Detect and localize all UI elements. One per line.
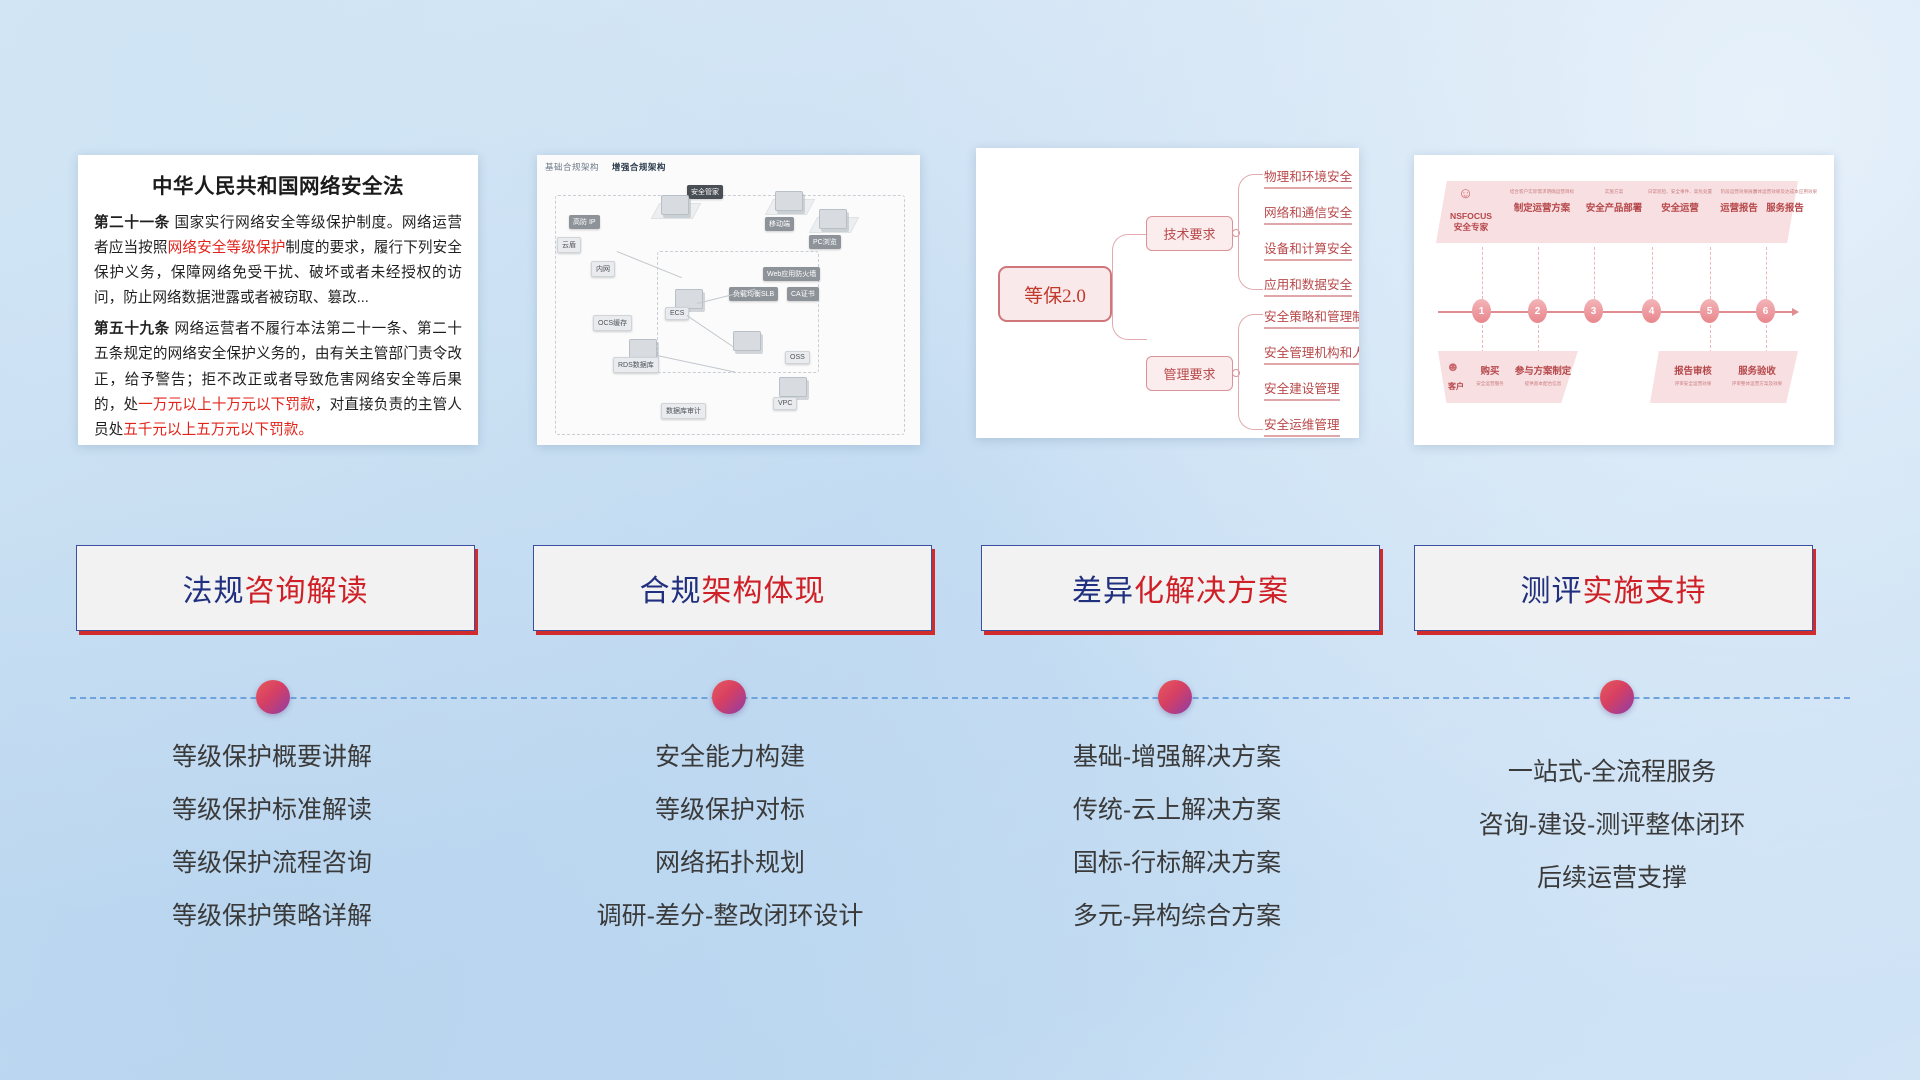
section-items-3: 基础-增强解决方案 传统-云上解决方案 国标-行标解决方案 多元-异构综合方案 (977, 745, 1377, 957)
timeline-connector-5 (1710, 247, 1711, 299)
section-title-box-2[interactable]: 合规架构体现 (533, 545, 932, 631)
section-items-4: 一站式-全流程服务 咨询-建设-测评整体闭环 后续运营支撑 (1412, 760, 1812, 919)
mindmap-leaf-t1: 物理和环境安全 (1264, 166, 1352, 189)
architecture-node-10: RDS数据库 (613, 357, 659, 373)
architecture-node-8: OSS (785, 351, 810, 364)
section-title-box-3[interactable]: 差异化解决方案 (981, 545, 1380, 631)
list-item: 等级保护概要讲解 (72, 745, 472, 770)
architecture-node-13: 云盾 (557, 237, 581, 253)
timeline-bottom-step-3: 报告审核 评审安全运营效果 (1664, 363, 1722, 387)
law-article-21-highlight: 网络安全等级保护 (168, 240, 286, 256)
architecture-node-0: 安全管家 (687, 185, 723, 199)
timeline-dot-2[interactable] (712, 680, 746, 714)
architecture-node-9: VPC (773, 397, 797, 410)
timeline-rail (70, 697, 1850, 699)
list-item: 咨询-建设-测评整体闭环 (1412, 813, 1812, 838)
section-title-box-4[interactable]: 测评实施支持 (1414, 545, 1813, 631)
architecture-cube-a (661, 195, 689, 215)
timeline-bottom-step-1: 购买 安全运营服务 (1466, 363, 1514, 387)
section-title-2-blue: 合规 (640, 575, 702, 608)
section-items-2: 安全能力构建 等级保护对标 网络拓扑规划 调研-差分-整改闭环设计 (530, 745, 930, 957)
card-law-screenshot: 中华人民共和国网络安全法 第二十一条 国家实行网络安全等级保护制度。网络运营者应… (78, 155, 478, 445)
section-title-3: 差异化解决方案 (1072, 566, 1289, 610)
architecture-cube-ecs (675, 289, 703, 309)
section-title-1: 法规咨询解读 (183, 566, 369, 610)
architecture-node-1: 高防 IP (569, 215, 600, 229)
section-title-1-red: 咨询解读 (245, 575, 369, 608)
section-title-3-red: 化解决方案 (1134, 575, 1289, 608)
list-item: 等级保护对标 (530, 798, 930, 823)
mindmap-branch-management: 管理要求 (1146, 356, 1233, 391)
mindmap-leaf-t2: 网络和通信安全 (1264, 202, 1352, 225)
section-items-1: 等级保护概要讲解 等级保护标准解读 等级保护流程咨询 等级保护策略详解 (72, 745, 472, 957)
list-item: 传统-云上解决方案 (977, 798, 1377, 823)
timeline-connector-b2 (1538, 325, 1539, 353)
mindmap-branch-technical-label: 技术要求 (1163, 224, 1215, 243)
timeline-brand: NSFOCUS 安全专家 (1438, 211, 1504, 233)
timeline-top-step-5: 总体运营效果及达成本应用效果 服务报告 (1752, 189, 1818, 214)
card-timeline-screenshot: ☺ NSFOCUS 安全专家 结合客户实际需求明确运营目标 制定运营方案 实施方… (1414, 155, 1834, 445)
mindmap-branch-technical: 技术要求 (1146, 216, 1233, 251)
expert-icon: ☺ (1458, 185, 1473, 202)
timeline-top-step-2: 实施方案 安全产品部署 (1578, 189, 1650, 214)
architecture-cube-b (775, 191, 803, 211)
card-architecture-screenshot: 基础合规架构 增强合规架构 安全管家 移动端 PC浏览 高防 IP 云盾 内网 … (537, 155, 920, 445)
law-article-21-label: 第二十一条 (94, 215, 170, 231)
mindmap-leaf-m1: 安全策略和管理制度 (1264, 306, 1359, 329)
mindmap-leaf-m3: 安全建设管理 (1264, 378, 1340, 401)
timeline-step-4: 4 (1642, 299, 1661, 323)
mindmap-technical-curve (1238, 174, 1263, 290)
law-paragraph-21: 第二十一条 国家实行网络安全等级保护制度。网络运营者应当按照网络安全等级保护制度… (94, 211, 462, 311)
poster-stage: 中华人民共和国网络安全法 第二十一条 国家实行网络安全等级保护制度。网络运营者应… (0, 0, 1920, 1080)
mindmap-leaf-m4: 安全运维管理 (1264, 414, 1340, 437)
timeline-top-step-1: 结合客户实际需求明确运营目标 制定运营方案 (1506, 189, 1578, 214)
list-item: 等级保护策略详解 (72, 904, 472, 929)
architecture-cube-oss (733, 331, 761, 351)
mindmap-leaf-t4: 应用和数据安全 (1264, 274, 1352, 297)
architecture-tab-basic: 基础合规架构 (545, 162, 599, 172)
timeline-dot-1[interactable] (256, 680, 290, 714)
timeline-connector-b4 (1766, 325, 1767, 353)
list-item: 国标-行标解决方案 (977, 851, 1377, 876)
timeline-step-3: 3 (1584, 299, 1603, 323)
section-title-4-blue: 测评 (1521, 575, 1583, 608)
timeline-dot-4[interactable] (1600, 680, 1634, 714)
timeline-connector-b3 (1710, 325, 1711, 353)
list-item: 等级保护流程咨询 (72, 851, 472, 876)
list-item: 安全能力构建 (530, 745, 930, 770)
list-item: 一站式-全流程服务 (1412, 760, 1812, 785)
timeline-connector-1 (1482, 247, 1483, 299)
architecture-node-2: CA证书 (787, 287, 819, 301)
timeline-connector-2 (1538, 247, 1539, 299)
law-paragraph-59: 第五十九条 网络运营者不履行本法第二十一条、第二十五条规定的网络安全保护义务的，… (94, 317, 462, 442)
architecture-node-3: PC浏览 (809, 235, 841, 249)
list-item: 调研-差分-整改闭环设计 (530, 904, 930, 929)
timeline-dot-3[interactable] (1158, 680, 1192, 714)
section-title-box-1[interactable]: 法规咨询解读 (76, 545, 475, 631)
timeline-step-1: 1 (1472, 299, 1491, 323)
section-title-4-red: 实施支持 (1583, 575, 1707, 608)
architecture-tab-enhanced: 增强合规架构 (612, 162, 666, 172)
list-item: 等级保护标准解读 (72, 798, 472, 823)
architecture-node-11: OCS缓存 (593, 315, 632, 331)
architecture-node-4: 移动端 (765, 217, 794, 231)
timeline-bottom-step-4: 服务验收 评审整体运营方案及效果 (1726, 363, 1788, 387)
section-title-2: 合规架构体现 (640, 566, 826, 610)
service-timeline: ☺ NSFOCUS 安全专家 结合客户实际需求明确运营目标 制定运营方案 实施方… (1414, 155, 1834, 445)
section-title-1-blue: 法规 (183, 575, 245, 608)
timeline-connector-b1 (1482, 325, 1483, 353)
architecture-node-12: 数据库审计 (661, 403, 706, 419)
timeline-connector-3 (1594, 247, 1595, 299)
architecture-node-14: 内网 (591, 261, 615, 277)
list-item: 多元-异构综合方案 (977, 904, 1377, 929)
architecture-node-5: Web应用防火墙 (763, 267, 820, 281)
mindmap-root-node: 等保2.0 (998, 266, 1112, 322)
law-article-59-highlight-2: 五千元以上五万元以下罚款。 (123, 422, 313, 438)
architecture-diagram: 基础合规架构 增强合规架构 安全管家 移动端 PC浏览 高防 IP 云盾 内网 … (537, 155, 920, 445)
list-item: 后续运营支撑 (1412, 866, 1812, 891)
architecture-cube-c (819, 209, 847, 229)
list-item: 基础-增强解决方案 (977, 745, 1377, 770)
card-mindmap-screenshot: 等保2.0 技术要求 物理和环境安全 网络和通信安全 设备和计算安全 应用和数据… (976, 148, 1359, 438)
timeline-step-5: 5 (1700, 299, 1719, 323)
architecture-node-7: ECS (665, 307, 689, 320)
timeline-axis (1438, 311, 1794, 313)
architecture-cube-vpc (779, 377, 807, 397)
law-document: 中华人民共和国网络安全法 第二十一条 国家实行网络安全等级保护制度。网络运营者应… (78, 155, 478, 445)
customer-icon: ☻ (1446, 359, 1460, 374)
section-title-3-blue: 差异 (1072, 575, 1134, 608)
law-article-59-label: 第五十九条 (94, 321, 170, 337)
architecture-tabs: 基础合规架构 增强合规架构 (545, 161, 676, 173)
section-title-2-red: 架构体现 (702, 575, 826, 608)
timeline-connector-6 (1766, 247, 1767, 299)
timeline-bottom-step-2: 参与方案制定 提供基本配合信息 (1510, 363, 1576, 387)
mindmap-root-curve (1112, 234, 1147, 340)
list-item: 网络拓扑规划 (530, 851, 930, 876)
timeline-step-2: 2 (1528, 299, 1547, 323)
architecture-cube-rds (629, 339, 657, 359)
mindmap: 等保2.0 技术要求 物理和环境安全 网络和通信安全 设备和计算安全 应用和数据… (976, 148, 1359, 438)
law-title: 中华人民共和国网络安全法 (94, 169, 462, 199)
section-title-4: 测评实施支持 (1521, 566, 1707, 610)
timeline-connector-4 (1652, 247, 1653, 299)
mindmap-management-curve (1238, 314, 1263, 430)
mindmap-leaf-m2: 安全管理机构和人员 (1264, 342, 1359, 365)
mindmap-leaf-t3: 设备和计算安全 (1264, 238, 1352, 261)
mindmap-branch-management-label: 管理要求 (1163, 364, 1215, 383)
timeline-step-6: 6 (1756, 299, 1775, 323)
law-article-59-highlight-1: 一万元以上十万元以下罚款 (138, 397, 315, 413)
